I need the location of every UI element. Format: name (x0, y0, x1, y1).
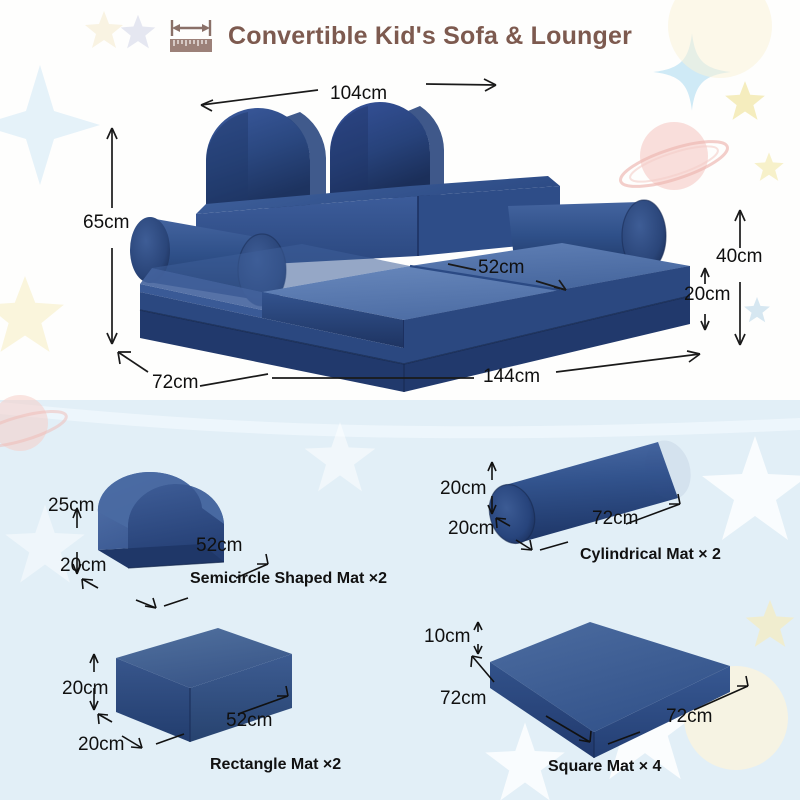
cylindrical-mat-length: 72cm (592, 508, 638, 530)
diagram-canvas: Convertible Kid's Sofa & Lounger (0, 0, 800, 800)
rectangle-mat-height: 20cm (62, 678, 108, 700)
dimension-seat-height: 20cm (684, 284, 730, 306)
square-mat-caption: Square Mat × 4 (548, 758, 661, 776)
cylindrical-mat-diameter: 20cm (440, 478, 486, 500)
semicircle-mat-caption: Semicircle Shaped Mat ×2 (190, 570, 387, 588)
dimension-width-base: 144cm (483, 366, 540, 388)
rectangle-mat-caption: Rectangle Mat ×2 (210, 756, 341, 774)
dimension-width-top: 104cm (330, 83, 387, 105)
cylindrical-mat-depth: 20cm (448, 518, 494, 540)
rectangle-mat-depth: 20cm (78, 734, 124, 756)
dimension-depth-left: 72cm (152, 372, 198, 394)
rectangle-mat-length: 52cm (226, 710, 272, 732)
dimension-seat-depth: 52cm (478, 257, 524, 279)
dimension-back-height: 40cm (716, 246, 762, 268)
dimension-height-left: 65cm (83, 212, 129, 234)
square-mat-depth: 72cm (440, 688, 486, 710)
square-mat-thickness: 10cm (424, 626, 470, 648)
cylindrical-mat-caption: Cylindrical Mat × 2 (580, 546, 721, 564)
semicircle-mat-depth: 20cm (60, 555, 106, 577)
semicircle-mat-length: 52cm (196, 535, 242, 557)
square-mat-width: 72cm (666, 706, 712, 728)
semicircle-mat-height: 25cm (48, 495, 94, 517)
